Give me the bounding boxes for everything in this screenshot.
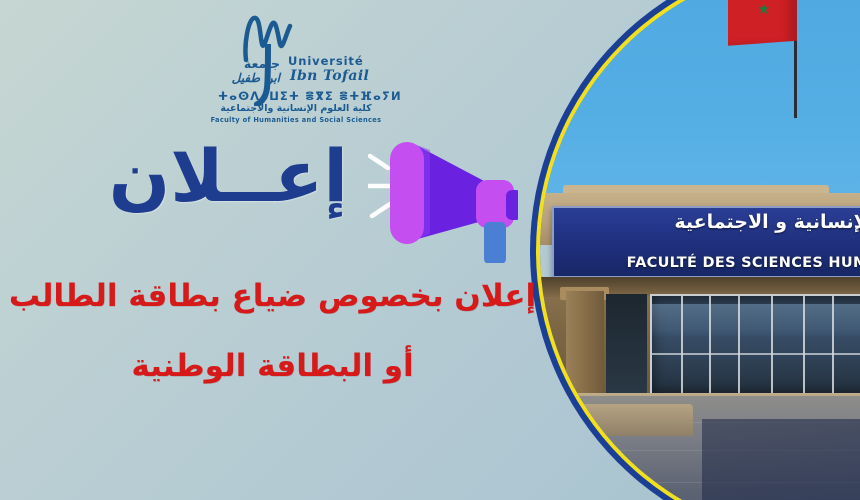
left-content-panel: جامعة ابن طفيل Université Ibn Tofail ⵜⴰⵙ…	[0, 0, 575, 500]
photo-content: ★ كلية العلوم الإنسانية و الاجتماعية FAC…	[540, 0, 860, 500]
university-logo: جامعة ابن طفيل Université Ibn Tofail ⵜⴰⵙ…	[196, 8, 396, 130]
logo-faculty-french: Faculty of Humanities and Social Science…	[210, 116, 382, 124]
announcement-poster: ★ كلية العلوم الإنسانية و الاجتماعية FAC…	[0, 0, 860, 500]
page-title: إعــلان	[118, 140, 348, 212]
announcement-line-2: أو البطاقة الوطنية	[0, 348, 545, 384]
door-reflection	[652, 304, 860, 337]
megaphone-cap	[506, 190, 518, 220]
entrance-glass-doors	[650, 294, 860, 395]
announcement-line-1: إعلان بخصوص ضياع بطاقة الطالب	[0, 278, 545, 314]
entrance-recess	[606, 294, 646, 395]
door-mullion	[738, 296, 740, 393]
door-mullion	[681, 296, 683, 393]
plaza-shadow	[702, 419, 860, 500]
photo-circle-frame: ★ كلية العلوم الإنسانية و الاجتماعية FAC…	[540, 0, 860, 500]
door-mullion	[709, 296, 711, 393]
faculty-sign-arabic: كلية العلوم الإنسانية و الاجتماعية	[554, 211, 860, 233]
megaphone-rim	[390, 142, 424, 244]
door-mullion	[771, 296, 773, 393]
megaphone-icon	[368, 128, 518, 263]
faculty-sign-french: FACULTÉ DES SCIENCES HUMAINES ET SOCIALE…	[554, 255, 860, 271]
door-mullion	[803, 296, 805, 393]
faculty-sign-board: كلية العلوم الإنسانية و الاجتماعية FACUL…	[552, 206, 860, 278]
door-mullion	[832, 296, 834, 393]
logo-faculty-arabic: كلية العلوم الإنسانية والاجتماعية	[218, 103, 374, 114]
morocco-flag-star: ★	[757, 2, 771, 16]
logo-french-university: Université	[288, 54, 364, 68]
megaphone-sound-lines	[368, 156, 390, 216]
faculty-building-photo: ★ كلية العلوم الإنسانية و الاجتماعية FAC…	[540, 0, 860, 500]
logo-arabic-university-name: ابن طفيل	[204, 71, 280, 85]
door-rail	[652, 353, 860, 355]
megaphone-handle	[484, 222, 506, 263]
logo-french-university-name: Ibn Tofail	[290, 68, 369, 84]
logo-tifinagh-text: ⵜⴰⵙⴷⴰⵡⵉⵜ ⴻⴳⵉ ⴻⵜⴼⴰⵢⵍ	[218, 89, 374, 103]
